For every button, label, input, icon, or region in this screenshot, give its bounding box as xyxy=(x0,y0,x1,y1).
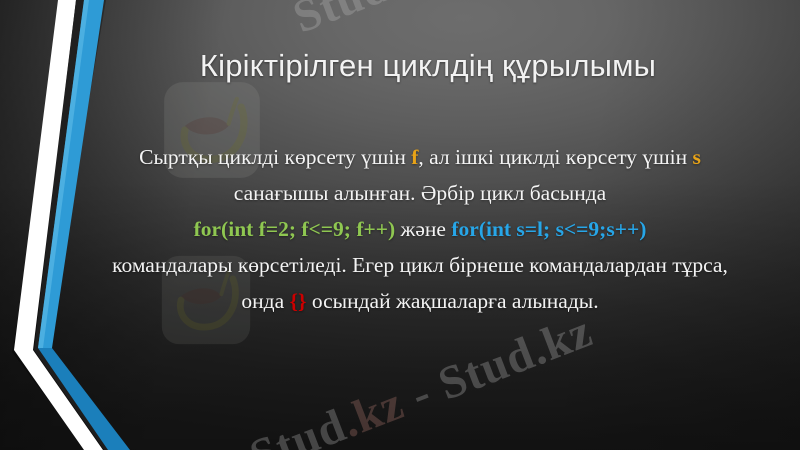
code-snippet-inner-loop: for(int s=l; s<=9;s++) xyxy=(451,217,646,241)
body-text-1b: , ал ішкі циклді көрсету xyxy=(418,145,637,169)
code-snippet-outer-loop: for(int f=2; f<=9; f++) xyxy=(194,217,396,241)
body-text-2b: санағышы алынған. Әрбір цикл басында xyxy=(234,181,606,205)
body-text-4: командалары көрсетіледі. Егер цикл бірне… xyxy=(112,253,524,277)
code-conjunction: және xyxy=(395,217,451,241)
body-text-6: алынады. xyxy=(512,289,599,313)
slide-content: Кіріктірілген циклдің құрылымы Сыртқы ци… xyxy=(0,0,800,450)
body-paragraph-2: for(int f=2; f<=9; f++) және for(int s=l… xyxy=(100,211,740,247)
slide-canvas: Stud.kz - Stud. Stud.kz - Stud.kz Кірікт… xyxy=(0,0,800,450)
body-paragraph-1: Сыртқы циклді көрсету үшін f, ал ішкі ци… xyxy=(100,139,740,211)
body-text-5b: осындай жақшаларға xyxy=(306,289,506,313)
curly-braces-highlight: {} xyxy=(290,289,307,313)
body-text-1a: Сыртқы циклді көрсету үшін xyxy=(139,145,411,169)
slide-body-text: Сыртқы циклді көрсету үшін f, ал ішкі ци… xyxy=(100,139,740,319)
page-title: Кіріктірілген циклдің құрылымы xyxy=(118,47,738,85)
variable-inner-counter: s xyxy=(692,145,700,169)
body-text-2a: үшін xyxy=(642,145,692,169)
body-paragraph-3: командалары көрсетіледі. Егер цикл бірне… xyxy=(100,247,740,319)
